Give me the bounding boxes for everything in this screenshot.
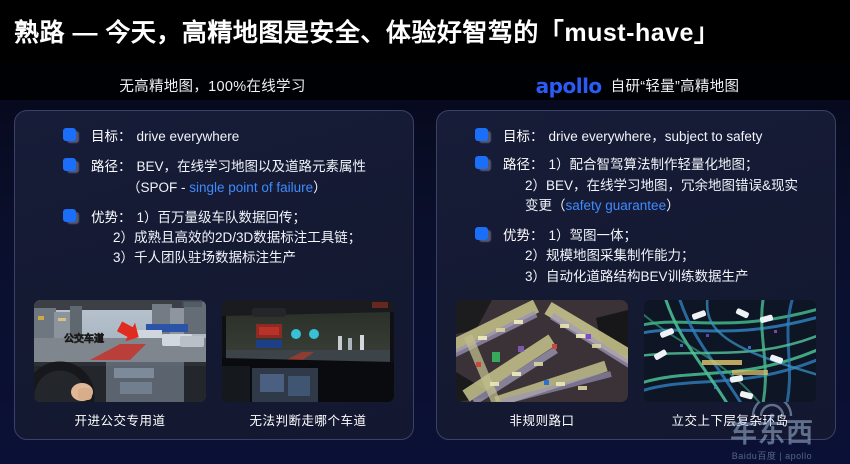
left-advantage-item-1: 2）成熟且高效的2D/3D数据标注工具链； [91,228,403,248]
left-advantage-row: 优势： 1）百万量级车队数据回传； 2）成熟且高效的2D/3D数据标注工具链； … [25,206,403,269]
left-bullet-list: 目标： drive everywhere 路径： BEV，在线学习地图以及道路元… [25,125,403,277]
thumbnail-caption: 无法判断走哪个车道 [249,410,366,429]
square-bullet-icon [475,156,490,171]
subheading-left-label: 无高精地图，100%在线学习 [119,75,305,96]
thumbnail-hd-map-irregular-intersection[interactable] [456,300,628,402]
page-title: 熟路 — 今天，高精地图是安全、体验好智驾的「must-have」 [0,13,719,49]
left-advantage-item-2: 3）千人团队驻场数据标注生产 [91,248,403,268]
right-advantage-item-1: 2）规模地图采集制作能力； [503,246,825,266]
right-path-cont-prefix: 变更（ [525,198,566,213]
thumbnail-cell[interactable]: 无法判断走哪个车道 [222,300,394,429]
right-path-row: 路径： 1）配合智驾算法制作轻量化地图； 2）BEV，在线学习地图，冗余地图错误… [447,153,825,216]
left-path-body: 路径： BEV，在线学习地图以及道路元素属性 （SPOF - single po… [91,155,403,198]
left-advantage-item-0: 1）百万量级车队数据回传； [137,208,307,228]
left-path-note-accent: single point of failure [189,180,313,195]
subheading-right-label: 自研“轻量”高精地图 [611,75,740,96]
left-path-row: 路径： BEV，在线学习地图以及道路元素属性 （SPOF - single po… [25,155,403,198]
left-advantage-label: 优势： [91,206,132,226]
thumbnail-caption: 开进公交专用道 [74,410,165,429]
thumbnail-caption: 立交上下层复杂环岛 [671,410,788,429]
thumbnail-caption: 非规则路口 [509,410,574,429]
left-goal-value: drive everywhere [137,127,240,147]
right-goal-row: 目标： drive everywhere，subject to safety [447,125,825,147]
right-advantage-item-2: 3）自动化道路结构BEV训练数据生产 [503,267,825,287]
left-path-note-prefix: （SPOF - [127,180,189,195]
left-path-note: （SPOF - single point of failure） [91,178,403,198]
right-path-cont-suffix: ） [666,198,680,213]
right-goal-label: 目标： [503,125,544,145]
right-path-body: 路径： 1）配合智驾算法制作轻量化地图； 2）BEV，在线学习地图，冗余地图错误… [503,153,825,216]
comparison-panels: 目标： drive everywhere 路径： BEV，在线学习地图以及道路元… [14,110,836,440]
right-path-item-1: 2）BEV，在线学习地图，冗余地图错误&现实 [503,176,825,196]
square-bullet-icon [63,209,78,224]
square-bullet-icon [475,128,490,143]
subheading-row: 无高精地图，100%在线学习 apollo 自研“轻量”高精地图 [0,62,850,108]
thumbnail-hd-map-multilevel-interchange[interactable] [644,300,816,402]
thumbnail-bus-lane-dashcam[interactable]: 公交车道 [34,300,206,402]
right-goal-body: 目标： drive everywhere，subject to safety [503,125,825,147]
left-goal-row: 目标： drive everywhere [25,125,403,147]
right-advantage-item-0: 1）驾图一体； [549,226,638,246]
dashcam-night-illustration [222,300,394,402]
subheading-left: 无高精地图，100%在线学习 [0,62,425,108]
right-path-item-0: 1）配合智驾算法制作轻量化地图； [549,155,759,175]
subheading-right: apollo 自研“轻量”高精地图 [425,62,850,108]
thumbnail-cell[interactable]: 公交车道 开进公交专用道 [34,300,206,429]
hd-map-interchange-illustration [644,300,816,402]
left-path-value: BEV，在线学习地图以及道路元素属性 [137,157,367,177]
thumbnail-night-intersection-dashcam[interactable] [222,300,394,402]
panel-no-hd-map: 目标： drive everywhere 路径： BEV，在线学习地图以及道路元… [14,110,414,440]
left-goal-body: 目标： drive everywhere [91,125,403,147]
dashcam-day-illustration: 公交车道 [34,300,206,402]
right-path-continuation: 变更（safety guarantee） [503,196,825,216]
left-path-note-suffix: ） [313,180,327,195]
thumbnail-cell[interactable]: 立交上下层复杂环岛 [644,300,816,429]
right-advantage-row: 优势： 1）驾图一体； 2）规模地图采集制作能力； 3）自动化道路结构BEV训练… [447,224,825,287]
hd-map-intersection-illustration [456,300,628,402]
apollo-logo: apollo [536,76,602,96]
square-bullet-icon [63,128,78,143]
right-thumbnail-row: 非规则路口 [447,300,825,431]
left-thumbnail-row: 公交车道 开进公交专用道 [25,300,403,431]
left-goal-label: 目标： [91,125,132,145]
right-path-cont-accent: safety guarantee [566,198,667,213]
left-path-label: 路径： [91,155,132,175]
right-path-label: 路径： [503,153,544,173]
right-bullet-list: 目标： drive everywhere，subject to safety 路… [447,125,825,295]
svg-text:公交车道: 公交车道 [64,332,104,345]
left-advantage-body: 优势： 1）百万量级车队数据回传； 2）成熟且高效的2D/3D数据标注工具链； … [91,206,403,269]
square-bullet-icon [475,227,490,242]
right-goal-value: drive everywhere，subject to safety [549,127,763,147]
slide-root: 熟路 — 今天，高精地图是安全、体验好智驾的「must-have」 无高精地图，… [0,0,850,464]
thumbnail-cell[interactable]: 非规则路口 [456,300,628,429]
right-advantage-body: 优势： 1）驾图一体； 2）规模地图采集制作能力； 3）自动化道路结构BEV训练… [503,224,825,287]
square-bullet-icon [63,158,78,173]
panel-apollo-hd-map: 目标： drive everywhere，subject to safety 路… [436,110,836,440]
right-advantage-label: 优势： [503,224,544,244]
slide-title-bar: 熟路 — 今天，高精地图是安全、体验好智驾的「must-have」 [0,0,850,62]
